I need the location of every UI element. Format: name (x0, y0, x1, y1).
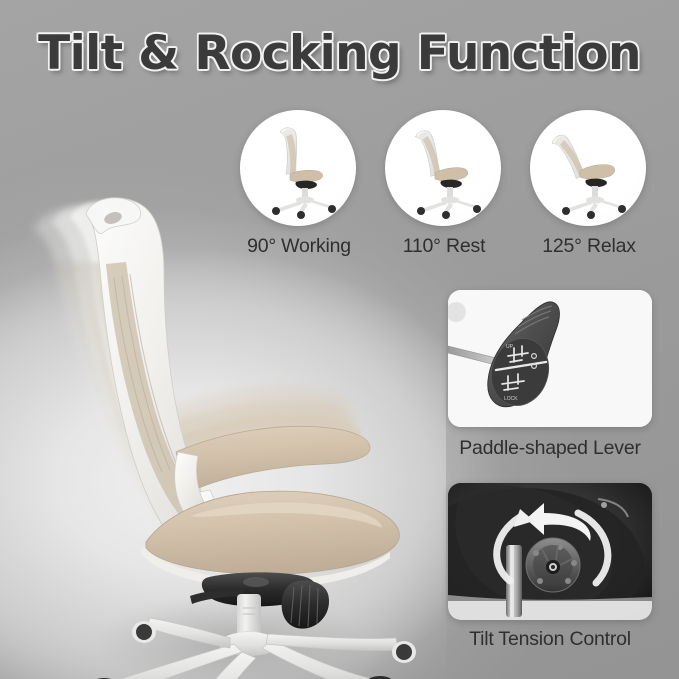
tilt-tension-control-label: Tilt Tension Control (448, 628, 652, 651)
tilt-state-1-circle (385, 110, 501, 226)
tilt-state-1[interactable]: 110° Rest (385, 110, 503, 258)
svg-text:UP: UP (506, 344, 514, 350)
svg-text:LOCK: LOCK (504, 396, 518, 402)
tilt-state-0[interactable]: 90° Working (240, 110, 358, 258)
chair-upright-icon (240, 110, 356, 226)
tension-knob-photo (526, 538, 580, 592)
tilt-state-1-label: 110° Rest (385, 235, 503, 258)
caster-wheel (392, 641, 416, 663)
tension-knob (282, 581, 329, 629)
page-title: Tilt & Rocking Function (0, 30, 679, 79)
chair-illustration (0, 96, 446, 679)
paddle-shaped-lever-label: Paddle-shaped Lever (448, 437, 652, 460)
chair-relaxed-icon (530, 110, 646, 226)
paddle-lever-icon: UP LOCK (448, 290, 652, 427)
tilt-state-2-circle (530, 110, 646, 226)
chair-reclined-icon (385, 110, 501, 226)
infographic-canvas: Tilt & Rocking Function (0, 0, 679, 679)
rotation-arrows-icon (448, 483, 652, 620)
tilt-state-0-label: 90° Working (240, 235, 358, 258)
chair-primary (82, 198, 416, 679)
tilt-state-2-label: 125° Relax (530, 235, 648, 258)
tilt-tension-control-card[interactable] (448, 483, 652, 620)
tilt-state-2[interactable]: 125° Relax (530, 110, 648, 258)
paddle-shaped-lever-card[interactable]: UP LOCK (448, 290, 652, 427)
tilt-state-0-circle (240, 110, 356, 226)
caster-wheel (132, 621, 156, 643)
hero-chair-image (0, 96, 446, 679)
